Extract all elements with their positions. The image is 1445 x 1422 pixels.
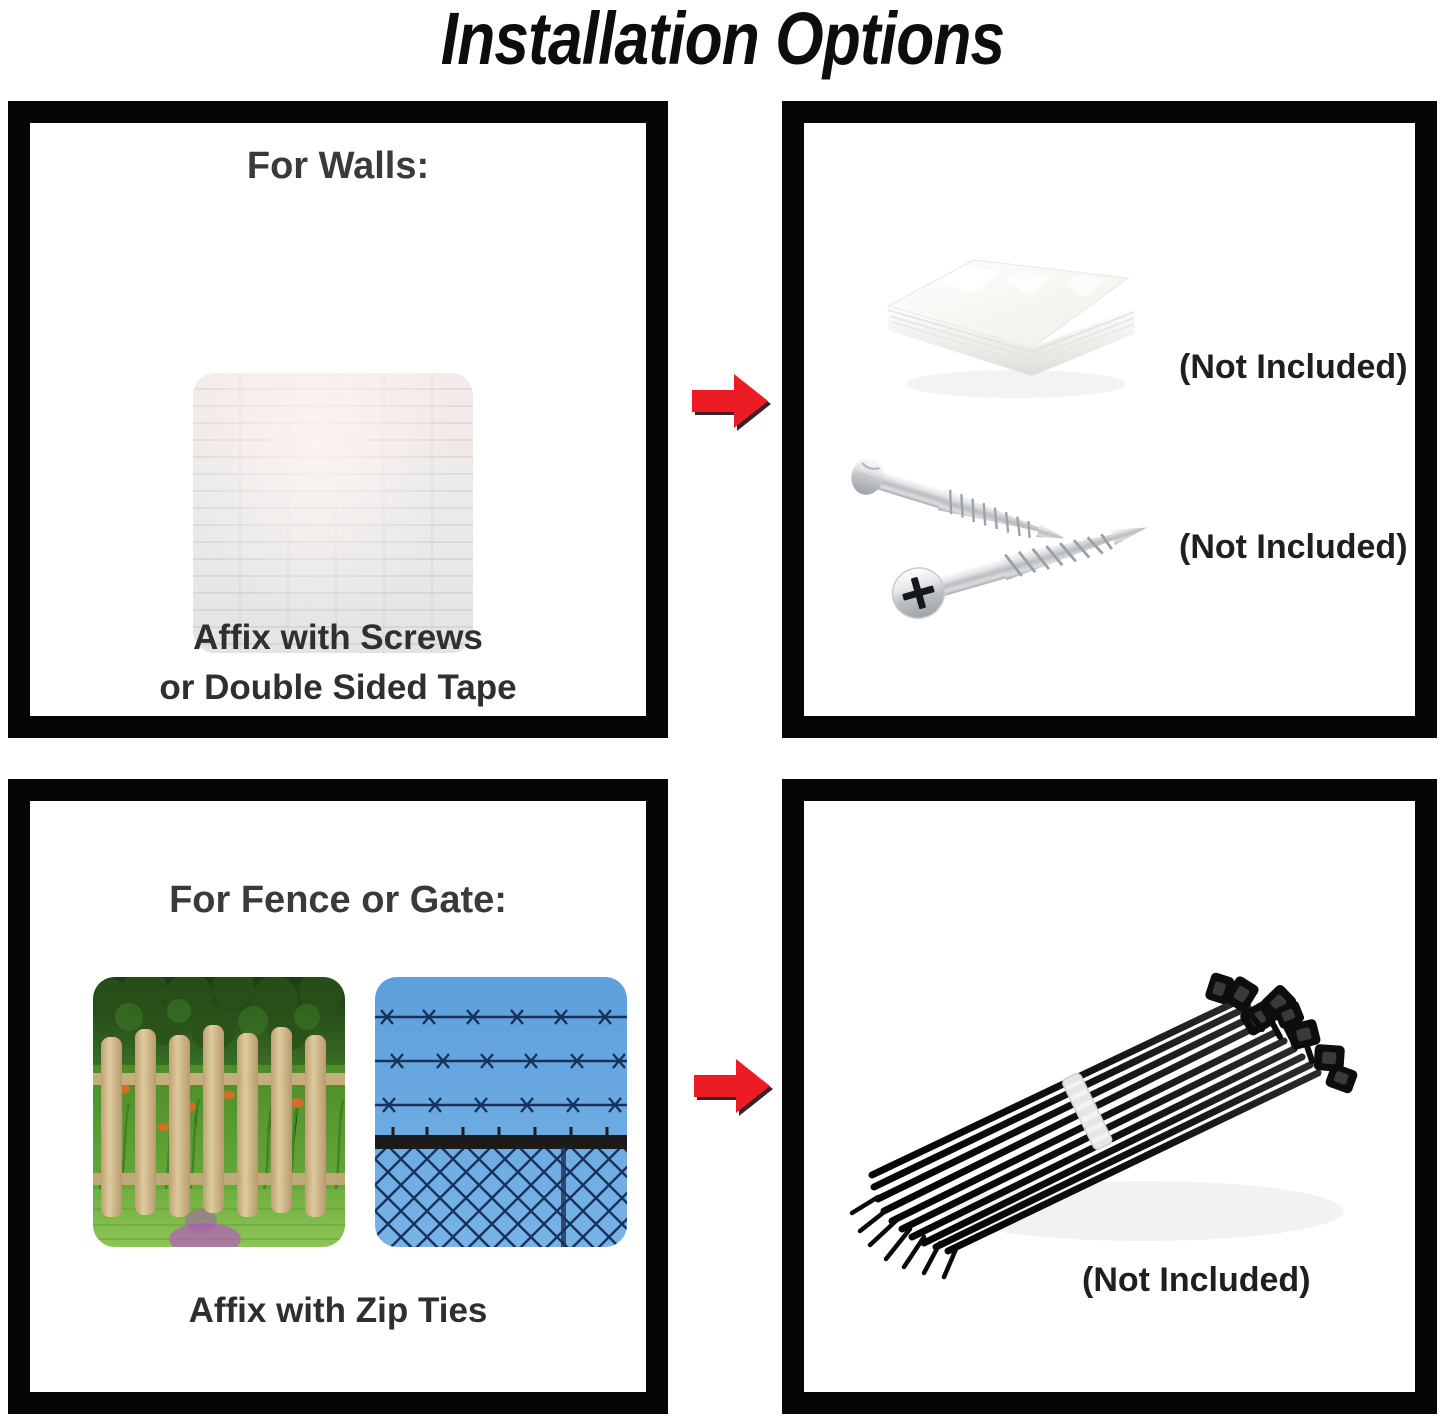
for-fence-heading: For Fence or Gate: [30,879,646,922]
panel-zip-ties-content: (Not Included) [804,801,1415,1392]
fence-caption: Affix with Zip Ties [30,1291,646,1331]
screws-not-included-label: (Not Included) [1179,528,1408,567]
for-walls-heading: For Walls: [30,145,646,188]
double-sided-tape-stack-image [876,248,1138,408]
wood-screws-image [834,453,1194,653]
panel-for-fence-content: For Fence or Gate: [30,801,646,1392]
page-title: Installation Options [116,0,1330,81]
panel-wall-hardware-content: (Not Included) [804,123,1415,716]
arrow-right-icon-bottom [690,1055,774,1117]
chain-link-fence-photo [375,977,627,1247]
panel-for-fence-or-gate: For Fence or Gate: [8,779,668,1414]
zip-ties-not-included-label: (Not Included) [1082,1261,1311,1300]
arrow-right-icon-top [688,370,772,432]
tape-not-included-label: (Not Included) [1179,348,1408,387]
panel-zip-ties: (Not Included) [782,779,1437,1414]
black-zip-ties-image [844,911,1404,1291]
wooden-picket-fence-photo [93,977,345,1247]
panel-for-walls: For Walls: Affix with Screws or Double S… [8,101,668,738]
panel-for-walls-content: For Walls: Affix with Screws or Double S… [30,123,646,716]
panel-wall-hardware: (Not Included) [782,101,1437,738]
white-brick-wall-image [193,373,473,653]
walls-caption-line-2: or Double Sided Tape [30,668,646,708]
